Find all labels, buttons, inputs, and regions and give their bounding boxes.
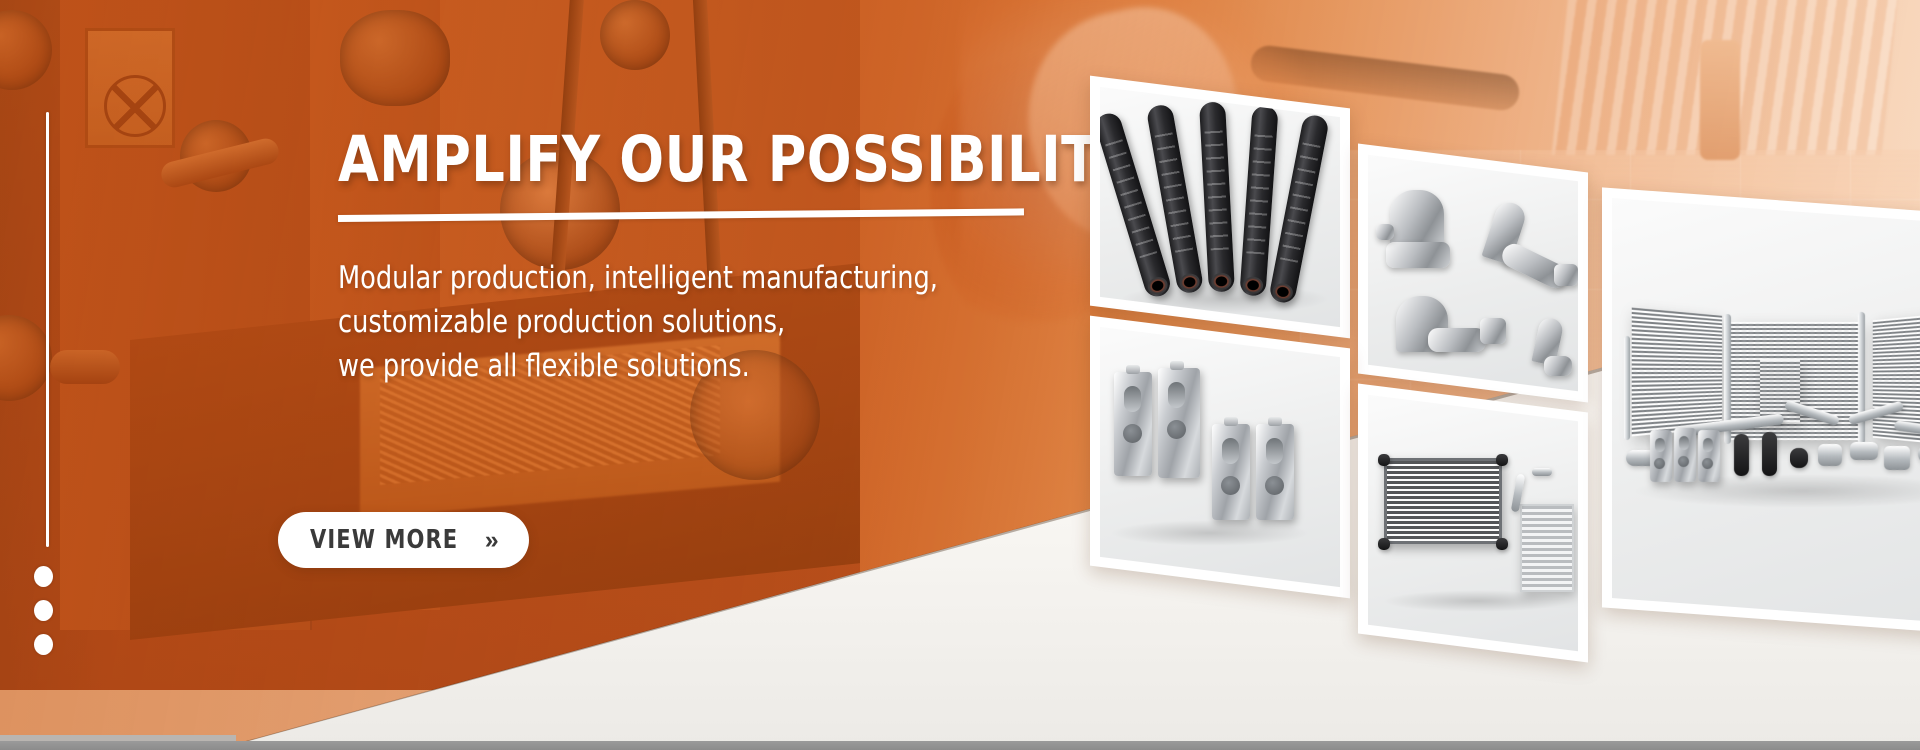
banner-copy: AMPLIFY OUR POSSIBILITIES Modular produc… [338, 128, 1058, 388]
subtitle-line-2: customizable production solutions, [338, 300, 1000, 344]
panel-hoses-art [1100, 87, 1340, 327]
product-panel-expansion-valves[interactable] [1090, 316, 1350, 599]
carousel-dots[interactable] [34, 566, 60, 668]
page-title: AMPLIFY OUR POSSIBILITIES [338, 128, 1008, 191]
title-underline [338, 208, 1024, 222]
view-more-button[interactable]: VIEW MORE » [278, 512, 529, 568]
panel-condenser-art [1368, 395, 1578, 652]
product-panel-hoses[interactable] [1090, 76, 1350, 339]
panel-full-range-art [1612, 198, 1920, 626]
hero-banner: AMPLIFY OUR POSSIBILITIES Modular produc… [0, 0, 1920, 750]
bottom-gray-bar [0, 741, 1920, 750]
chevron-right-icon: » [485, 528, 499, 553]
subtitle-line-1: Modular production, intelligent manufact… [338, 256, 1000, 300]
banner-subtitle: Modular production, intelligent manufact… [338, 256, 1000, 388]
carousel-dot-3[interactable] [34, 634, 53, 655]
subtitle-line-3: we provide all flexible solutions. [338, 344, 1000, 388]
panel-fittings-art [1368, 155, 1578, 392]
product-panel-condenser[interactable] [1358, 383, 1588, 662]
product-panel-full-range[interactable] [1602, 187, 1920, 636]
product-collage [1090, 70, 1920, 690]
carousel-dot-2[interactable] [34, 600, 53, 621]
panel-valves-art [1100, 327, 1340, 587]
carousel-rail [46, 112, 49, 547]
carousel-dot-1[interactable] [34, 566, 53, 587]
view-more-label: VIEW MORE [310, 525, 458, 555]
product-panel-fittings[interactable] [1358, 143, 1588, 402]
